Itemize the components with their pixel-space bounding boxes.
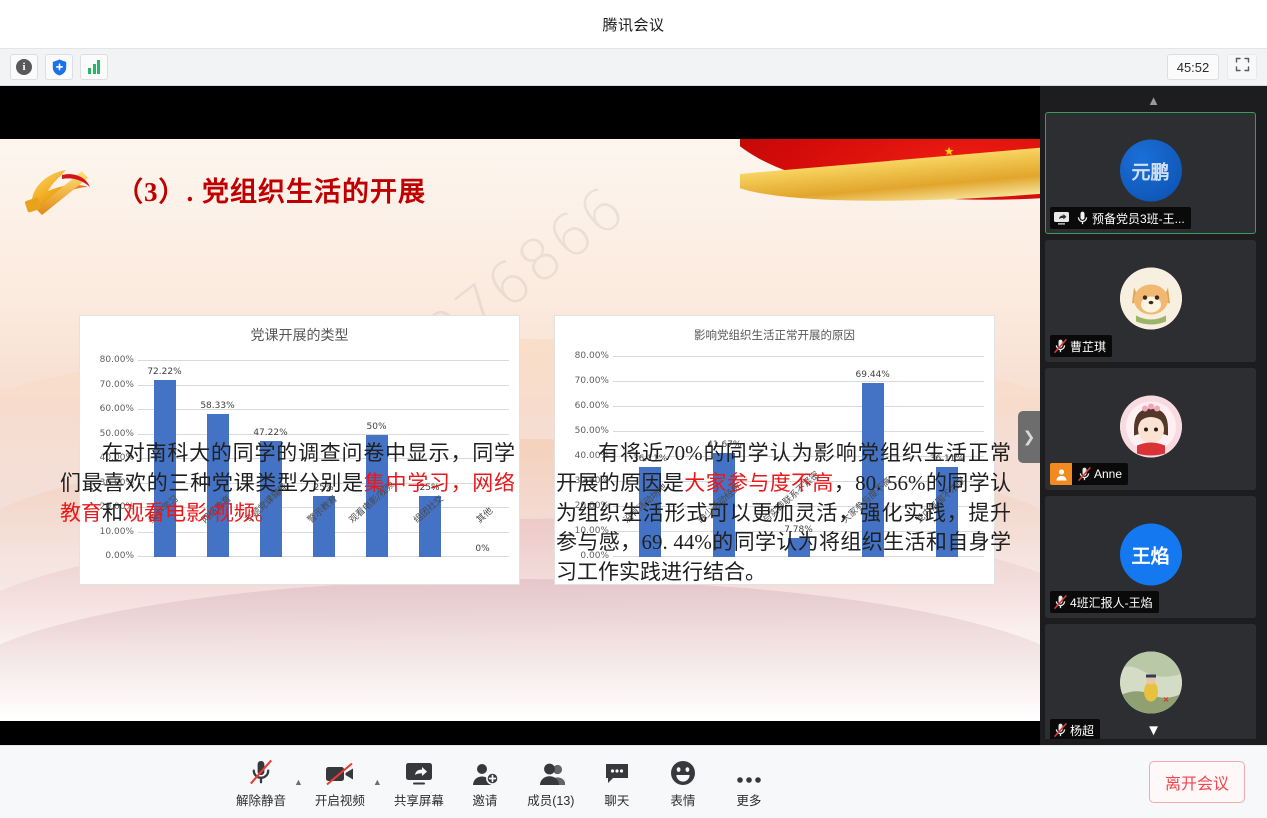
microphone-muted-icon [1050,335,1070,357]
share-screen-icon [404,756,434,786]
collapse-panel-button[interactable]: ❯ [1018,411,1040,463]
participants-icon [537,756,565,786]
bar-value-label: 69.44% [856,370,890,380]
y-axis-tick: 0.00% [105,551,134,561]
control-label: 邀请 [472,790,497,809]
avatar [1120,268,1182,330]
bar-value-label: 47.22% [253,428,287,438]
triangle-down-icon: ▼ [1146,722,1161,739]
info-icon: i [16,59,32,75]
emoji-icon [670,756,696,786]
participant-rail: ▲ 元鹏预备党员3班-王... 曹芷琪 Anne王焰4班汇报 [1040,86,1267,745]
avatar [1120,396,1182,458]
participant-namebar: 预备党员3班-王... [1050,207,1191,229]
network-status-button[interactable] [80,54,108,80]
control-label: 共享屏幕 [394,790,444,809]
triangle-up-icon: ▲ [1147,93,1160,108]
participant-name: Anne [1094,467,1122,481]
security-button[interactable] [45,54,73,80]
background-wave [0,579,1040,719]
participant-tile[interactable]: 王焰4班汇报人-王焰 [1045,496,1256,618]
participant-name: 曹芷琪 [1070,338,1106,355]
slide-paragraph-left: 在对南科大的同学的调查问卷中显示，同学们最喜欢的三种党课类型分别是集中学习，网络… [60,439,515,528]
chart-title: 影响党组织生活正常开展的原因 [555,316,994,343]
control-label: 表情 [670,790,695,809]
party-hammer-sickle-emblem [18,161,102,217]
control-buttons: 解除静音▲ 开启视频▲ 共享屏幕 邀请 成员(13) 聊天 表情 更多 [228,756,782,809]
control-camera-off[interactable]: 开启视频 [307,756,373,809]
paragraph-highlight: 大家参与度不高 [684,471,834,495]
camera-off-icon [325,756,355,786]
control-chat[interactable]: 聊天 [584,756,650,809]
control-invite-user[interactable]: 邀请 [452,756,518,809]
paragraph-highlight: 观看电影/视频。 [123,501,276,525]
control-participants[interactable]: 成员(13) [518,756,584,809]
control-emoji[interactable]: 表情 [650,756,716,809]
microphone-muted-icon [1074,463,1094,485]
y-axis-tick: 80.00% [575,351,609,361]
bar-value-label: 72.22% [147,367,181,377]
flag-ribbon-decoration: ★ ★ ★ ★ ★ [740,139,1040,211]
shared-screen-stage: ★ ★ ★ ★ ★ 615954076866 [0,86,1040,745]
bar-value-label: 58.33% [200,401,234,411]
participant-name: 4班汇报人-王焰 [1070,594,1153,611]
y-axis-tick: 50.00% [575,426,609,436]
control-label: 解除静音 [236,790,286,809]
leave-meeting-button[interactable]: 离开会议 [1149,761,1245,803]
window-titlebar: 腾讯会议 [0,0,1267,48]
y-axis-tick: 70.00% [100,380,134,390]
y-axis-tick: 70.00% [575,376,609,386]
presentation-slide: ★ ★ ★ ★ ★ 615954076866 [0,139,1040,721]
control-label: 开启视频 [315,790,365,809]
more-dots-icon [735,756,763,786]
control-microphone-muted[interactable]: 解除静音 [228,756,294,809]
participant-namebar: 曹芷琪 [1050,335,1112,357]
control-share-screen[interactable]: 共享屏幕 [386,756,452,809]
screen-share-icon [1050,207,1072,229]
scroll-up-button[interactable]: ▲ [1040,91,1267,109]
participant-tile[interactable]: 曹芷琪 [1045,240,1256,362]
host-badge-icon [1050,463,1072,485]
participant-tiles: 元鹏预备党员3班-王... 曹芷琪 Anne王焰4班汇报人-王焰 [1045,112,1262,739]
slide-title: （3）. 党组织生活的开展 [116,170,426,209]
control-more-dots[interactable]: 更多 [716,756,782,809]
control-label: 成员(13) [527,790,574,809]
fullscreen-button[interactable] [1227,54,1257,80]
microphone-icon [1072,207,1092,229]
chevron-right-icon: ❯ [1023,428,1036,446]
meeting-window: 腾讯会议 i 45:52 [0,0,1267,818]
participant-name: 预备党员3班-王... [1092,210,1185,227]
window-title: 腾讯会议 [602,14,664,35]
scroll-down-button[interactable]: ▼ [1040,721,1267,739]
participant-tile[interactable]: 元鹏预备党员3班-王... [1045,112,1256,234]
meeting-controls-bar: 解除静音▲ 开启视频▲ 共享屏幕 邀请 成员(13) 聊天 表情 更多 离开会议 [0,745,1267,818]
paragraph-text: 和 [102,501,123,525]
y-axis-tick: 60.00% [575,401,609,411]
fullscreen-icon [1235,57,1250,77]
chart-title: 党课开展的类型 [80,316,519,345]
y-axis-tick: 50.00% [100,429,134,439]
invite-user-icon [471,756,499,786]
avatar: 王焰 [1120,524,1182,586]
security-shield-icon [52,59,67,76]
slide-header: （3）. 党组织生活的开展 [18,161,426,217]
avatar [1120,652,1182,714]
meeting-timer: 45:52 [1167,54,1219,80]
control-label: 更多 [736,790,761,809]
participant-namebar: Anne [1050,463,1128,485]
chat-icon [604,756,630,786]
y-axis-tick: 60.00% [100,404,134,414]
slide-paragraph-right: 有将近70%的同学认为影响党组织生活正常开展的原因是大家参与度不高，80. 56… [556,439,1011,588]
microphone-muted-icon [1050,591,1070,613]
bar-value-label: 50% [366,422,386,432]
participant-namebar: 4班汇报人-王焰 [1050,591,1159,613]
meeting-toolbar: i 45:52 [0,48,1267,86]
caret-up-icon[interactable]: ▲ [294,777,307,809]
meeting-info-button[interactable]: i [10,54,38,80]
participant-tile[interactable]: Anne [1045,368,1256,490]
avatar: 元鹏 [1120,140,1182,202]
y-axis-tick: 80.00% [100,355,134,365]
control-label: 聊天 [604,790,629,809]
microphone-muted-icon [248,756,274,786]
network-signal-icon [88,60,100,74]
caret-up-icon[interactable]: ▲ [373,777,386,809]
